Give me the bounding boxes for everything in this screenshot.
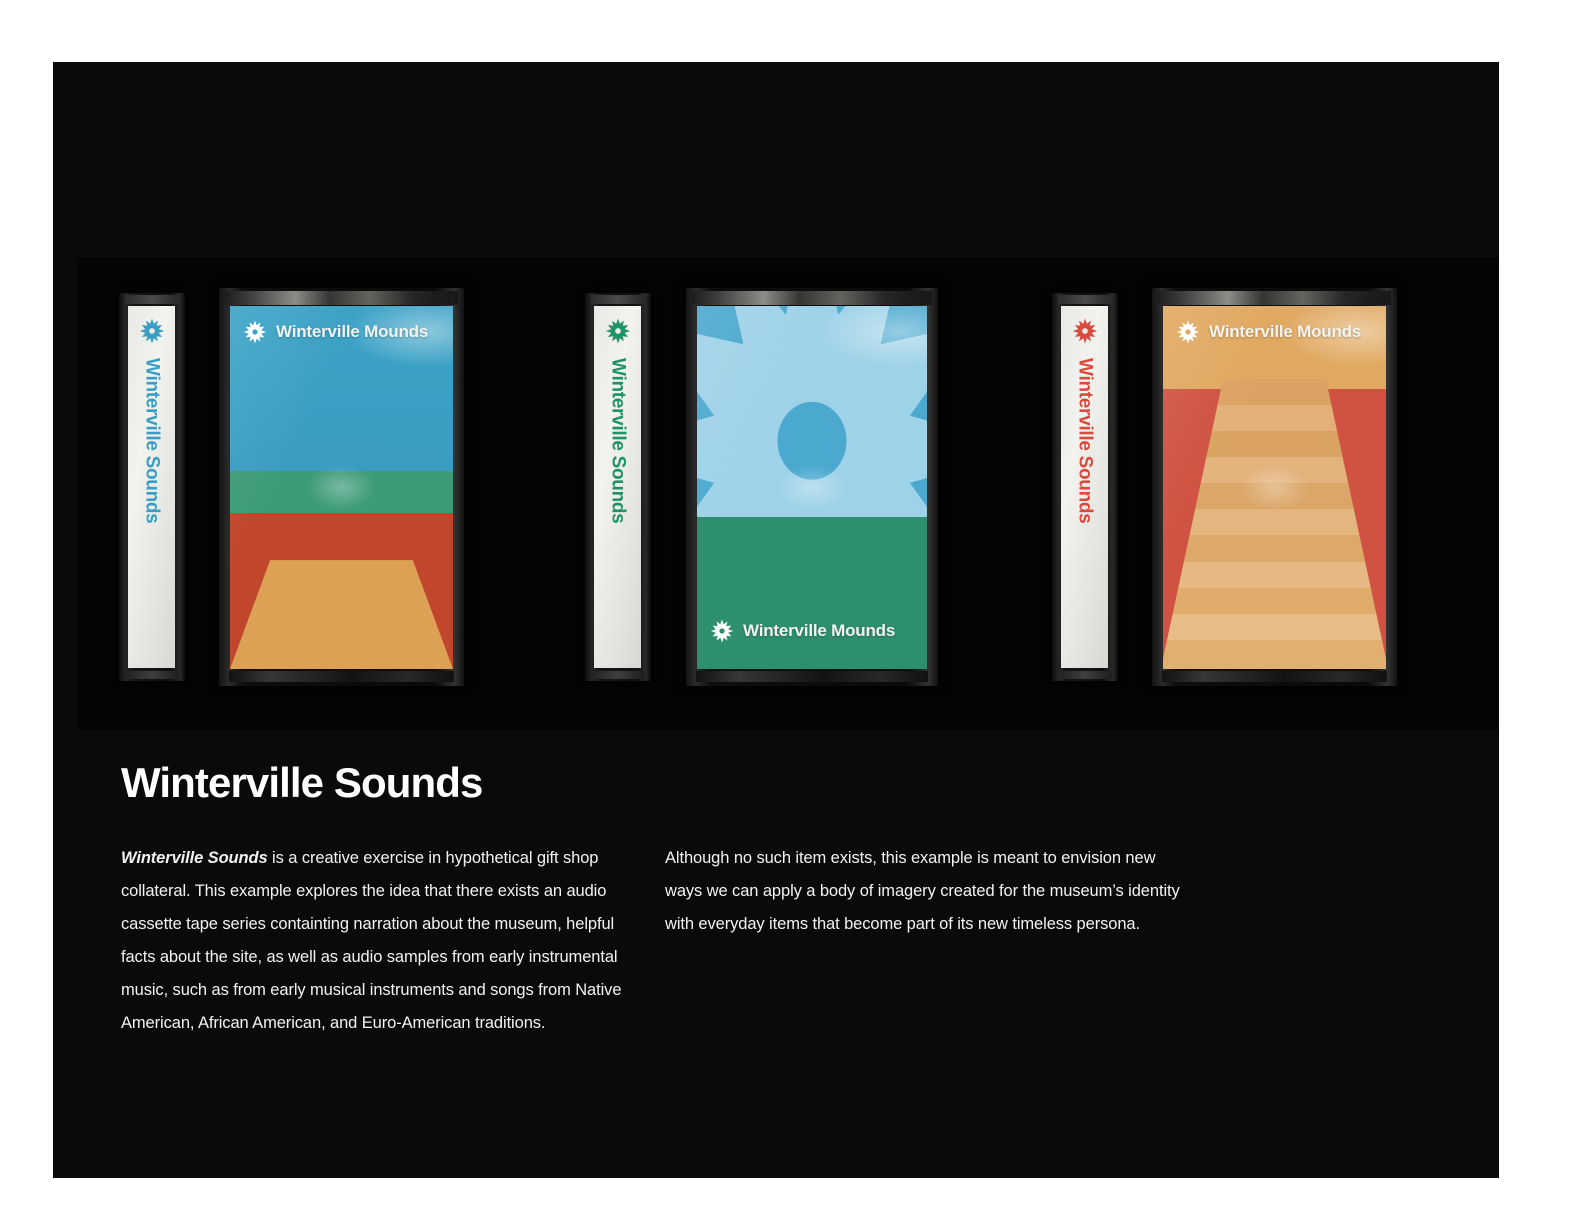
- cassette-1-spine-label: Winterville Sounds: [128, 306, 175, 668]
- cassette-3-spine-case: Winterville Sounds: [1052, 293, 1118, 681]
- page-title: Winterville Sounds: [121, 762, 1459, 804]
- cassette-1-cover-title: Winterville Mounds: [243, 320, 428, 344]
- artwork-stair: [1163, 588, 1386, 614]
- cassette-2-spine-label: Winterville Sounds: [594, 306, 641, 668]
- cassette-1-cover-title-text: Winterville Mounds: [276, 322, 428, 342]
- case-lid-bottom: [1162, 671, 1387, 682]
- artwork-green-band: [697, 517, 927, 669]
- cassette-2-cover-case: Winterville Mounds: [686, 288, 938, 686]
- description-lead-in: Winterville Sounds: [121, 849, 268, 867]
- artwork-stepped-mound: [1163, 306, 1386, 669]
- cassette-1-cover-case: Winterville Mounds: [219, 288, 464, 686]
- cassette-1-spine-text: Winterville Sounds: [141, 358, 163, 523]
- cassette-3-cover-art: Winterville Mounds: [1163, 306, 1386, 669]
- description-paragraph-right: Although no such item exists, this examp…: [665, 842, 1185, 941]
- artwork-giant-starburst: [697, 306, 927, 669]
- artwork-stair: [1163, 535, 1386, 561]
- description-section: Winterville Sounds Winterville Sounds is…: [121, 762, 1459, 1040]
- cassette-3-cover-title: Winterville Mounds: [1176, 320, 1361, 344]
- starburst-icon: [243, 320, 267, 344]
- cassette-3-spine-label: Winterville Sounds: [1061, 306, 1108, 668]
- artwork-stair: [1163, 509, 1386, 535]
- artwork-grass-band: [230, 471, 453, 513]
- starburst-icon: [605, 318, 631, 344]
- artwork-stair: [1163, 562, 1386, 588]
- artwork-stair: [1163, 457, 1386, 483]
- description-paragraph-left: Winterville Sounds is a creative exercis…: [121, 842, 641, 1040]
- cassette-3-spine-text: Winterville Sounds: [1074, 358, 1096, 523]
- page-canvas: Winterville Sounds: [53, 62, 1499, 1178]
- cassette-photograph: Winterville Sounds: [77, 258, 1499, 730]
- case-lid-top: [1158, 291, 1391, 305]
- description-columns: Winterville Sounds is a creative exercis…: [121, 842, 1459, 1040]
- description-body-left: is a creative exercise in hypothetical g…: [121, 849, 621, 1032]
- cassette-1-spine-case: Winterville Sounds: [119, 293, 185, 681]
- cassette-2-spine-text: Winterville Sounds: [607, 358, 629, 523]
- artwork-layered-landscape: [230, 306, 453, 669]
- starburst-icon: [710, 619, 734, 643]
- cassette-2-spine-case: Winterville Sounds: [585, 293, 651, 681]
- artwork-stair: [1163, 640, 1386, 669]
- case-lid-top: [692, 291, 932, 305]
- cassette-2-cover-art: Winterville Mounds: [697, 306, 927, 669]
- artwork-sand-band: [1163, 306, 1386, 389]
- artwork-ramp-shape: [1163, 379, 1386, 669]
- case-lid-top: [225, 291, 458, 305]
- case-lid-bottom: [696, 671, 928, 682]
- starburst-icon: [139, 318, 165, 344]
- cassette-3: Winterville Sounds: [1052, 288, 1412, 688]
- artwork-stair: [1163, 614, 1386, 640]
- artwork-stair: [1163, 483, 1386, 509]
- cassette-2: Winterville Sounds: [585, 288, 950, 688]
- cassette-1-cover-art: Winterville Mounds: [230, 306, 453, 669]
- artwork-stair: [1163, 405, 1386, 431]
- starburst-icon: [1176, 320, 1200, 344]
- cassette-3-cover-title-text: Winterville Mounds: [1209, 322, 1361, 342]
- artwork-stair: [1163, 431, 1386, 457]
- starburst-icon: [1072, 318, 1098, 344]
- description-column-left: Winterville Sounds is a creative exercis…: [121, 842, 641, 1040]
- cassette-2-cover-title-text: Winterville Mounds: [743, 621, 895, 641]
- cassette-3-cover-case: Winterville Mounds: [1152, 288, 1397, 686]
- case-lid-bottom: [229, 671, 454, 682]
- cassette-2-cover-title: Winterville Mounds: [710, 619, 895, 643]
- cassette-1: Winterville Sounds: [119, 288, 479, 688]
- description-column-right: Although no such item exists, this examp…: [665, 842, 1185, 1040]
